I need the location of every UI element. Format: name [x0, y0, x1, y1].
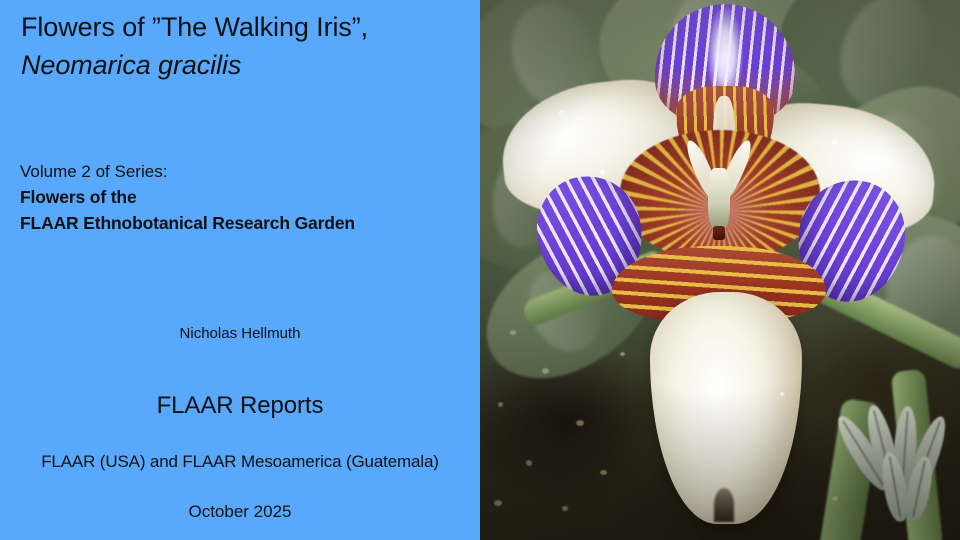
- organizations-line: FLAAR (USA) and FLAAR Mesoamerica (Guate…: [0, 452, 480, 472]
- style-tip: [713, 226, 725, 240]
- author-name: Nicholas Hellmuth: [0, 325, 480, 342]
- cover-page: Flowers of ”The Walking Iris”, Neomarica…: [0, 0, 960, 540]
- dew-drop: [600, 170, 606, 176]
- dew-drop: [544, 150, 549, 155]
- style-column: [708, 168, 730, 232]
- photo-stage: [480, 0, 960, 540]
- dew-drop: [832, 140, 838, 146]
- dew-drop: [558, 110, 565, 117]
- publication-date: October 2025: [0, 502, 480, 522]
- text-panel: Flowers of ”The Walking Iris”, Neomarica…: [0, 0, 480, 540]
- series-title-line1: Flowers of the: [20, 184, 475, 210]
- page-title: Flowers of ”The Walking Iris”, Neomarica…: [21, 8, 471, 84]
- cover-photo: [480, 0, 960, 540]
- dew-drop: [872, 162, 877, 167]
- series-block: Volume 2 of Series: Flowers of the FLAAR…: [20, 159, 475, 236]
- title-line-species: Neomarica gracilis: [21, 46, 471, 84]
- series-title-line2: FLAAR Ethnobotanical Research Garden: [20, 210, 475, 236]
- title-line-main: Flowers of ”The Walking Iris”,: [21, 8, 471, 46]
- dew-drop: [780, 392, 785, 397]
- lower-lip-notch: [714, 488, 734, 522]
- series-volume-label: Volume 2 of Series:: [20, 159, 475, 184]
- imprint-name: FLAAR Reports: [0, 392, 480, 420]
- flower-neomarica-gracilis: [480, 0, 960, 540]
